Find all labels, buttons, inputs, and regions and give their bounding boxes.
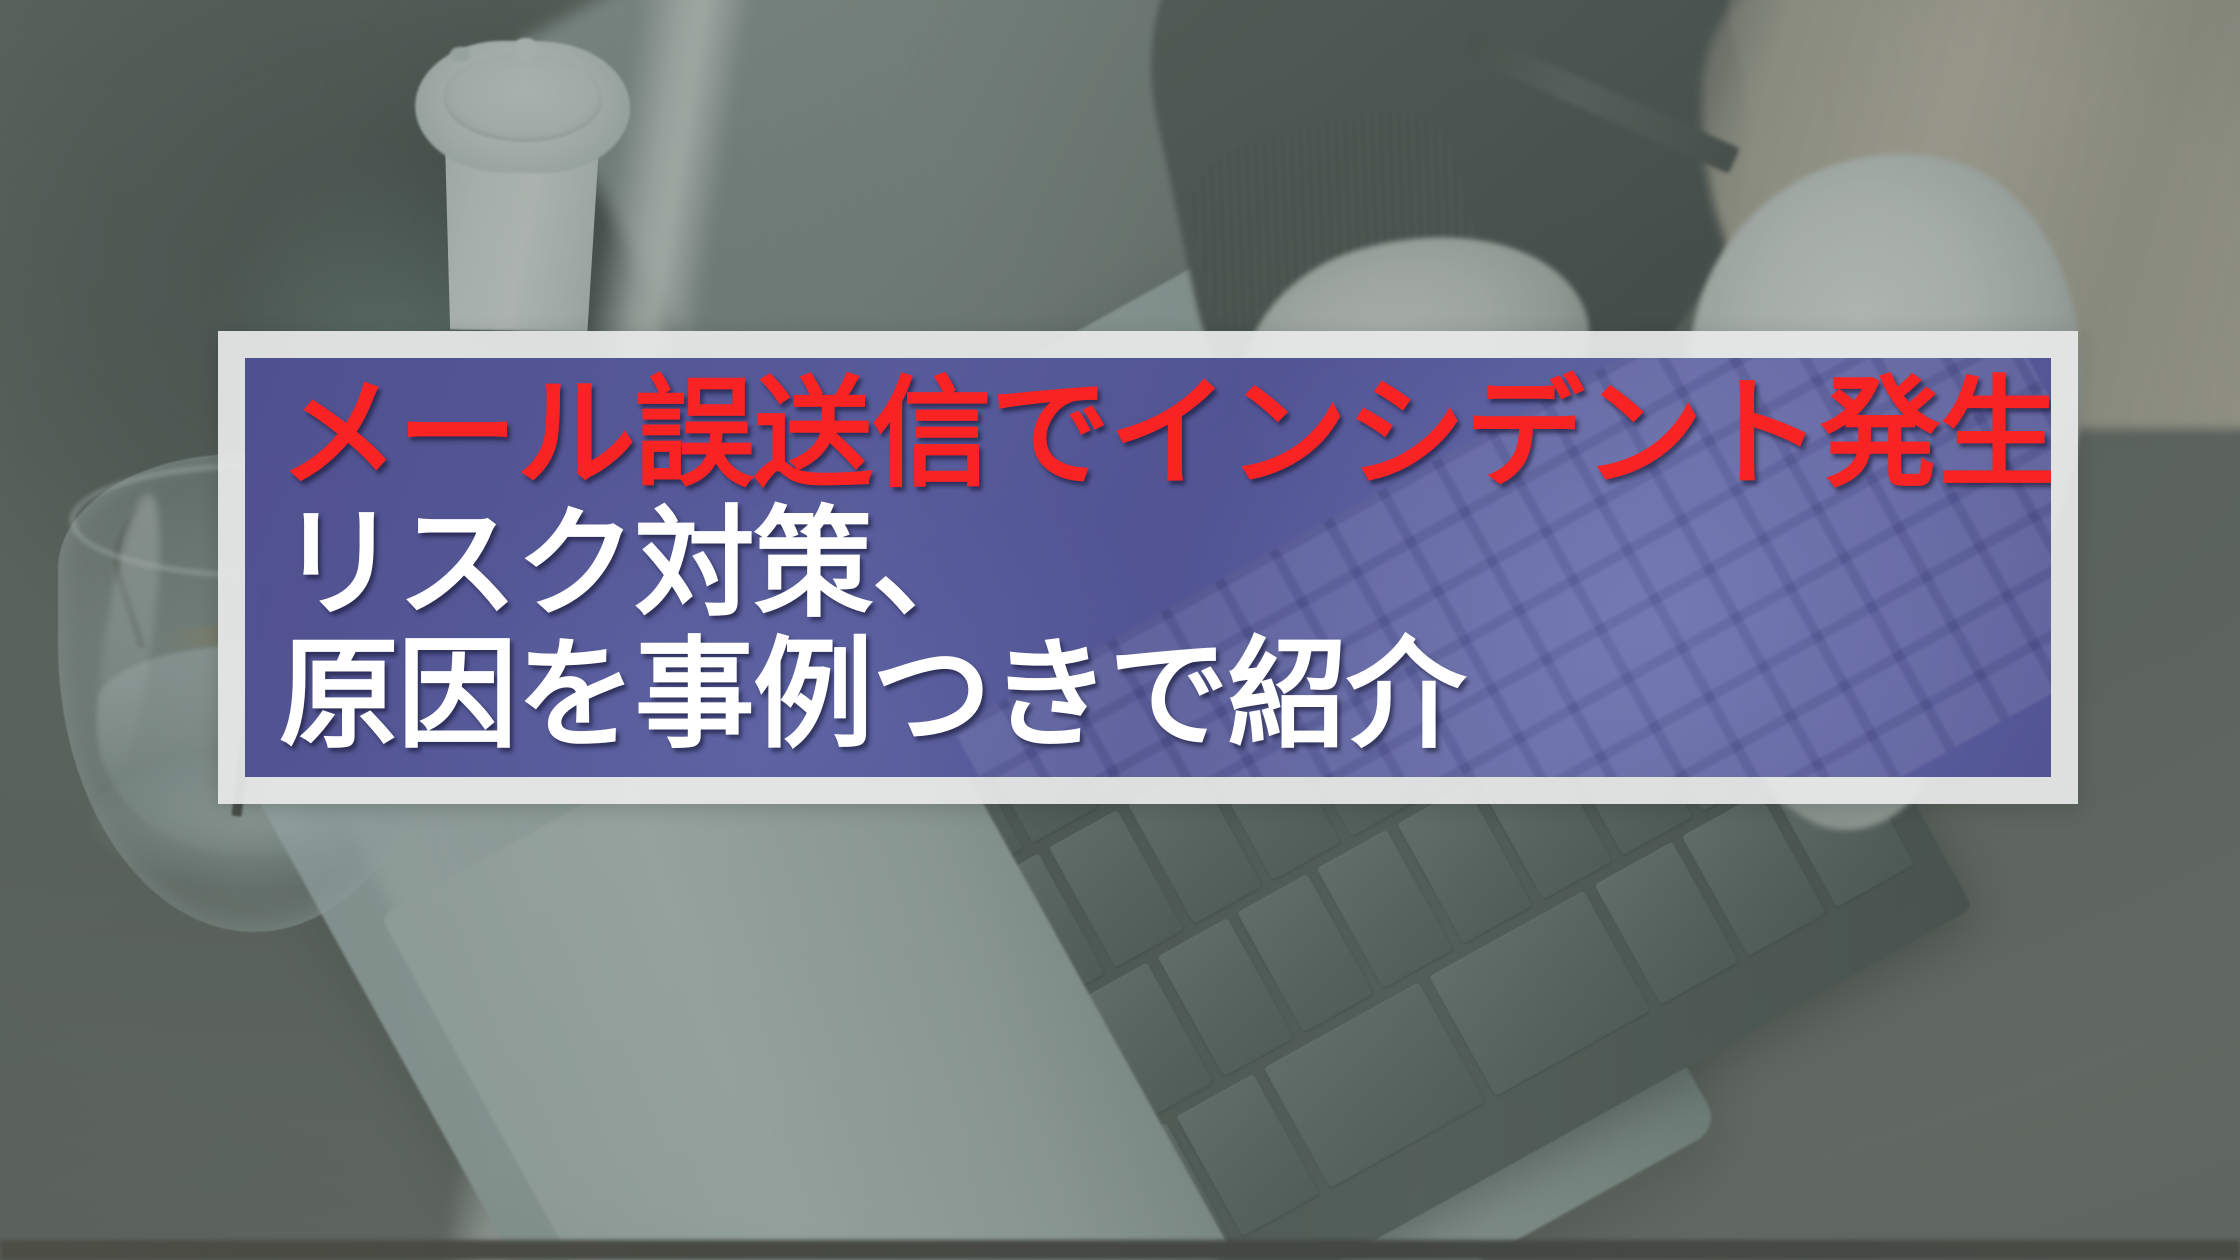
title-line-3: 原因を事例つきで紹介 — [279, 632, 2017, 760]
title-line-1: メール誤送信でインシデント発生! — [279, 371, 2017, 499]
title-line-2: リスク対策、 — [279, 501, 2017, 629]
bottom-edge-strip — [0, 1240, 2240, 1260]
coffee-cup — [412, 15, 632, 334]
title-banner-frame: メール誤送信でインシデント発生! リスク対策、 原因を事例つきで紹介 — [218, 331, 2078, 804]
thumbnail-canvas: メール誤送信でインシデント発生! リスク対策、 原因を事例つきで紹介 — [0, 0, 2240, 1260]
title-banner-panel: メール誤送信でインシデント発生! リスク対策、 原因を事例つきで紹介 — [245, 358, 2051, 777]
